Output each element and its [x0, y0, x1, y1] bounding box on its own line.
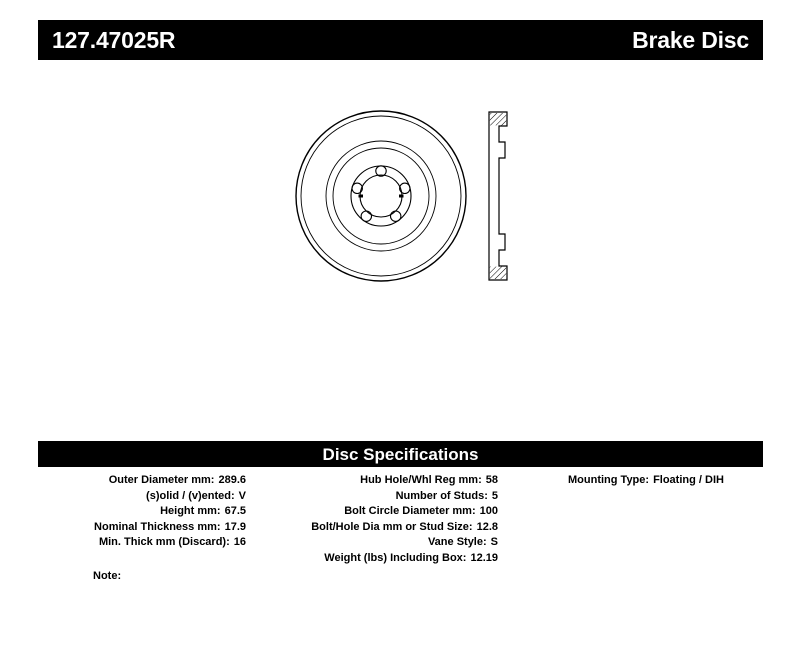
product-type-label: Brake Disc: [632, 29, 749, 52]
spec-label: Min. Thick mm (Discard):: [99, 535, 230, 551]
spec-column-right: Mounting Type: Floating / DIH: [526, 473, 763, 489]
spec-label: Mounting Type:: [568, 473, 649, 489]
spec-label: Height mm:: [160, 504, 221, 520]
spec-row: Outer Diameter mm: 289.6: [38, 473, 276, 489]
spec-value: 100: [476, 504, 498, 520]
technical-drawing-area: [38, 78, 763, 428]
vane-hatch-upper: [490, 113, 506, 125]
disc-specifications-title: Disc Specifications: [323, 446, 479, 463]
spec-value: Floating / DIH: [649, 473, 724, 489]
spec-row: (s)olid / (v)ented: V: [38, 489, 276, 505]
brake-disc-face-view: [296, 111, 466, 281]
spec-label: Hub Hole/Whl Reg mm:: [360, 473, 482, 489]
note-row: Note:: [38, 570, 763, 582]
center-bore-alignment-marks: [359, 195, 404, 198]
spec-value: 289.6: [214, 473, 246, 489]
spec-row: Mounting Type: Floating / DIH: [526, 473, 763, 489]
spec-label: Number of Studs:: [396, 489, 488, 505]
spec-row: Bolt/Hole Dia mm or Stud Size: 12.8: [276, 520, 526, 536]
note-label: Note:: [38, 570, 121, 582]
spec-row: Number of Studs: 5: [276, 489, 526, 505]
spec-column-left: Outer Diameter mm: 289.6 (s)olid / (v)en…: [38, 473, 276, 551]
spec-label: Vane Style:: [428, 535, 487, 551]
brake-disc-drawing: [293, 96, 523, 296]
spec-label: Bolt/Hole Dia mm or Stud Size:: [311, 520, 472, 536]
spec-value: 12.19: [466, 551, 498, 567]
spec-label: Bolt Circle Diameter mm:: [344, 504, 475, 520]
spec-value: 58: [482, 473, 498, 489]
disc-specifications-header: Disc Specifications: [38, 441, 763, 467]
spec-value: 5: [488, 489, 498, 505]
spec-label: Outer Diameter mm:: [109, 473, 215, 489]
vane-hatch-lower: [490, 267, 506, 279]
spec-value: 67.5: [221, 504, 246, 520]
spec-label: Nominal Thickness mm:: [94, 520, 221, 536]
header-bar: 127.47025R Brake Disc: [38, 20, 763, 60]
spec-value: 12.8: [473, 520, 498, 536]
spec-value: V: [235, 489, 246, 505]
spec-column-middle: Hub Hole/Whl Reg mm: 58 Number of Studs:…: [276, 473, 526, 567]
spec-row: Hub Hole/Whl Reg mm: 58: [276, 473, 526, 489]
spec-label: (s)olid / (v)ented:: [146, 489, 235, 505]
spec-row: Min. Thick mm (Discard): 16: [38, 535, 276, 551]
spec-row: Bolt Circle Diameter mm: 100: [276, 504, 526, 520]
spec-row: Nominal Thickness mm: 17.9: [38, 520, 276, 536]
spec-value: S: [487, 535, 498, 551]
spec-label: Weight (lbs) Including Box:: [324, 551, 466, 567]
spec-value: 17.9: [221, 520, 246, 536]
brake-disc-cross-section-view: [489, 112, 507, 280]
spec-row: Weight (lbs) Including Box: 12.19: [276, 551, 526, 567]
spec-row: Vane Style: S: [276, 535, 526, 551]
spec-row: Height mm: 67.5: [38, 504, 276, 520]
spec-value: 16: [230, 535, 246, 551]
part-number: 127.47025R: [52, 29, 175, 52]
